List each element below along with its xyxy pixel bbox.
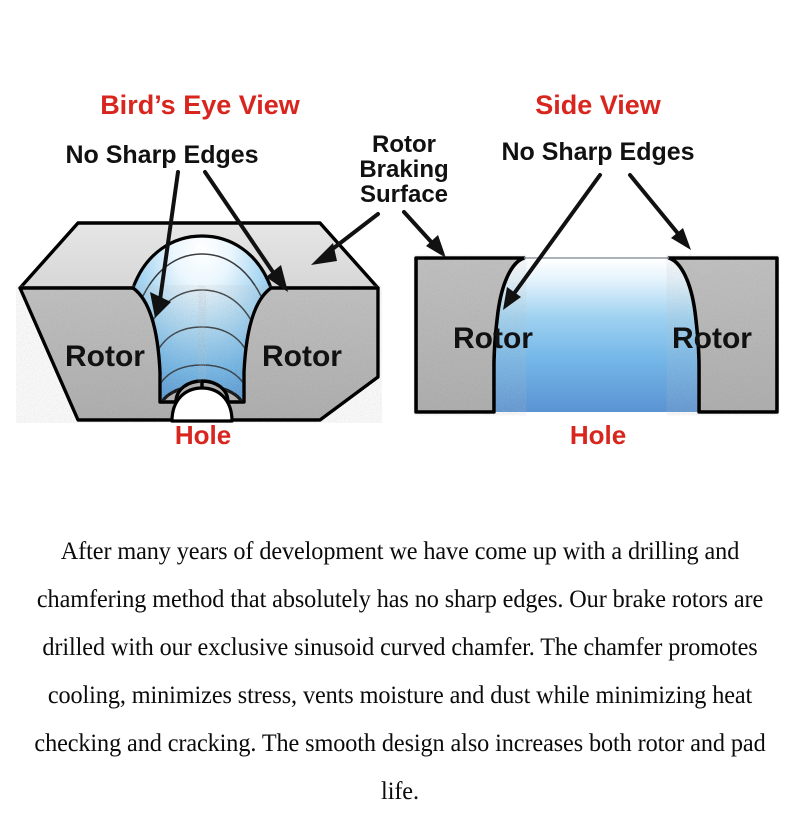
birds-eye-hole-label: Hole — [175, 420, 231, 450]
birds-eye-rotor-label-right: Rotor — [262, 340, 342, 373]
diagram-page: Bird’s Eye View Side View No Sharp Edges… — [0, 0, 800, 800]
arrow-shaft-right-2 — [630, 175, 680, 236]
rotor-braking-surface-label-line2: Braking — [359, 156, 448, 183]
rotor-chamfer-illustration: Bird’s Eye View Side View No Sharp Edges… — [0, 0, 800, 470]
rotor-braking-surface-label-line3: Surface — [360, 181, 448, 208]
side-view-hole-label: Hole — [570, 420, 626, 450]
side-view-title: Side View — [535, 90, 662, 120]
birds-eye-no-sharp-edges-label: No Sharp Edges — [65, 141, 258, 169]
birds-eye-rotor-label-left: Rotor — [65, 340, 145, 373]
arrow-shaft — [404, 212, 434, 245]
side-view-rotor-label-right: Rotor — [672, 322, 752, 355]
rotor-braking-surface-label-line1: Rotor — [372, 131, 436, 158]
side-view-block: Rotor Rotor — [416, 258, 777, 412]
side-view-rotor-label-left: Rotor — [453, 322, 533, 355]
description-paragraph: After many years of development we have … — [28, 527, 773, 815]
side-view-no-sharp-edges-label: No Sharp Edges — [501, 138, 694, 166]
rotor-braking-surface-arrow-right — [404, 212, 446, 258]
birds-eye-view-title: Bird’s Eye View — [100, 90, 301, 120]
